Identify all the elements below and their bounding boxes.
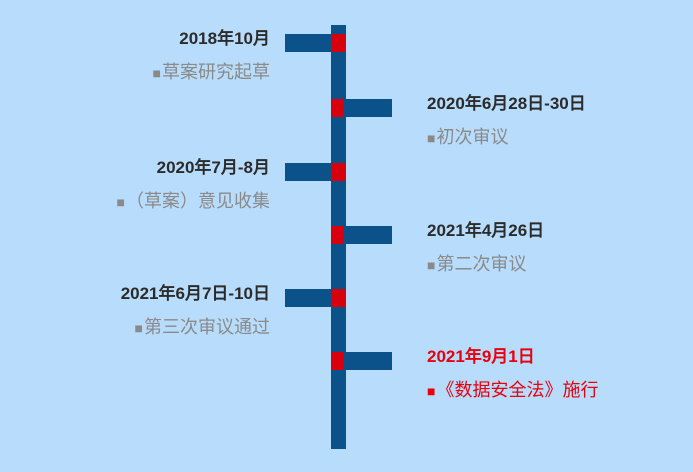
timeline-event-2-date: 2020年6月28日-30日 — [427, 93, 586, 115]
connector-bar-2 — [331, 99, 392, 117]
timeline-event-5-description-text: 第三次审议通过 — [144, 317, 270, 337]
timeline-event-4: 2021年4月26日 ■第二次审议 — [331, 226, 693, 306]
connector-bar-blue-segment — [285, 34, 332, 52]
timeline-event-4-date: 2021年4月26日 — [427, 220, 544, 242]
connector-bar-6 — [331, 352, 392, 370]
connector-bar-blue-segment — [285, 289, 332, 307]
connector-bar-blue-segment — [344, 226, 392, 244]
timeline-event-5-labels: 2021年6月7日-10日 ■第三次审议通过 — [121, 283, 270, 340]
timeline-event-3-date: 2020年7月-8月 — [117, 157, 270, 179]
timeline-event-1-labels: 2018年10月 ■草案研究起草 — [153, 28, 270, 85]
connector-bar-3 — [285, 163, 345, 181]
timeline-event-2-labels: 2020年6月28日-30日 ■初次审议 — [427, 93, 586, 150]
timeline-event-6-description-text: 《数据安全法》施行 — [436, 380, 598, 400]
connector-bar-1 — [285, 34, 345, 52]
timeline-event-5-date: 2021年6月7日-10日 — [121, 283, 270, 305]
connector-bar-red-marker — [332, 163, 345, 181]
timeline-event-2: 2020年6月28日-30日 ■初次审议 — [331, 99, 693, 179]
timeline-event-3-description-text: （草案）意见收集 — [126, 191, 270, 211]
connector-bar-red-marker — [331, 226, 344, 244]
timeline-event-1-date: 2018年10月 — [153, 28, 270, 50]
timeline-event-6-description: ■《数据安全法》施行 — [427, 378, 598, 403]
timeline-event-6-date: 2021年9月1日 — [427, 346, 598, 368]
timeline-event-2-description: ■初次审议 — [427, 125, 586, 150]
timeline-event-1-description: ■草案研究起草 — [153, 60, 270, 85]
timeline-event-4-labels: 2021年4月26日 ■第二次审议 — [427, 220, 544, 277]
timeline-event-5-description: ■第三次审议通过 — [121, 315, 270, 340]
timeline-event-3: 2020年7月-8月 ■（草案）意见收集 — [0, 163, 345, 243]
connector-bar-red-marker — [332, 289, 345, 307]
connector-bar-red-marker — [331, 99, 344, 117]
timeline-event-6-labels: 2021年9月1日 ■《数据安全法》施行 — [427, 346, 598, 403]
timeline-event-3-description: ■（草案）意见收集 — [117, 189, 270, 214]
timeline-event-1: 2018年10月 ■草案研究起草 — [0, 34, 345, 114]
timeline-event-4-description-text: 第二次审议 — [436, 254, 526, 274]
timeline-diagram: 2018年10月 ■草案研究起草 2020年6月28日-30日 ■初次审议 20… — [0, 0, 693, 472]
bullet-square-icon: ■ — [135, 320, 144, 336]
bullet-square-icon: ■ — [117, 194, 126, 210]
timeline-event-2-description-text: 初次审议 — [436, 127, 508, 147]
connector-bar-blue-segment — [344, 352, 392, 370]
connector-bar-blue-segment — [285, 163, 332, 181]
timeline-event-6: 2021年9月1日 ■《数据安全法》施行 — [331, 352, 693, 432]
timeline-event-3-labels: 2020年7月-8月 ■（草案）意见收集 — [117, 157, 270, 214]
bullet-square-icon: ■ — [153, 65, 162, 81]
timeline-event-5: 2021年6月7日-10日 ■第三次审议通过 — [0, 289, 345, 369]
connector-bar-4 — [331, 226, 392, 244]
connector-bar-blue-segment — [344, 99, 392, 117]
timeline-event-1-description-text: 草案研究起草 — [162, 62, 270, 82]
timeline-event-4-description: ■第二次审议 — [427, 252, 544, 277]
connector-bar-red-marker — [331, 352, 344, 370]
connector-bar-red-marker — [332, 34, 345, 52]
connector-bar-5 — [285, 289, 345, 307]
